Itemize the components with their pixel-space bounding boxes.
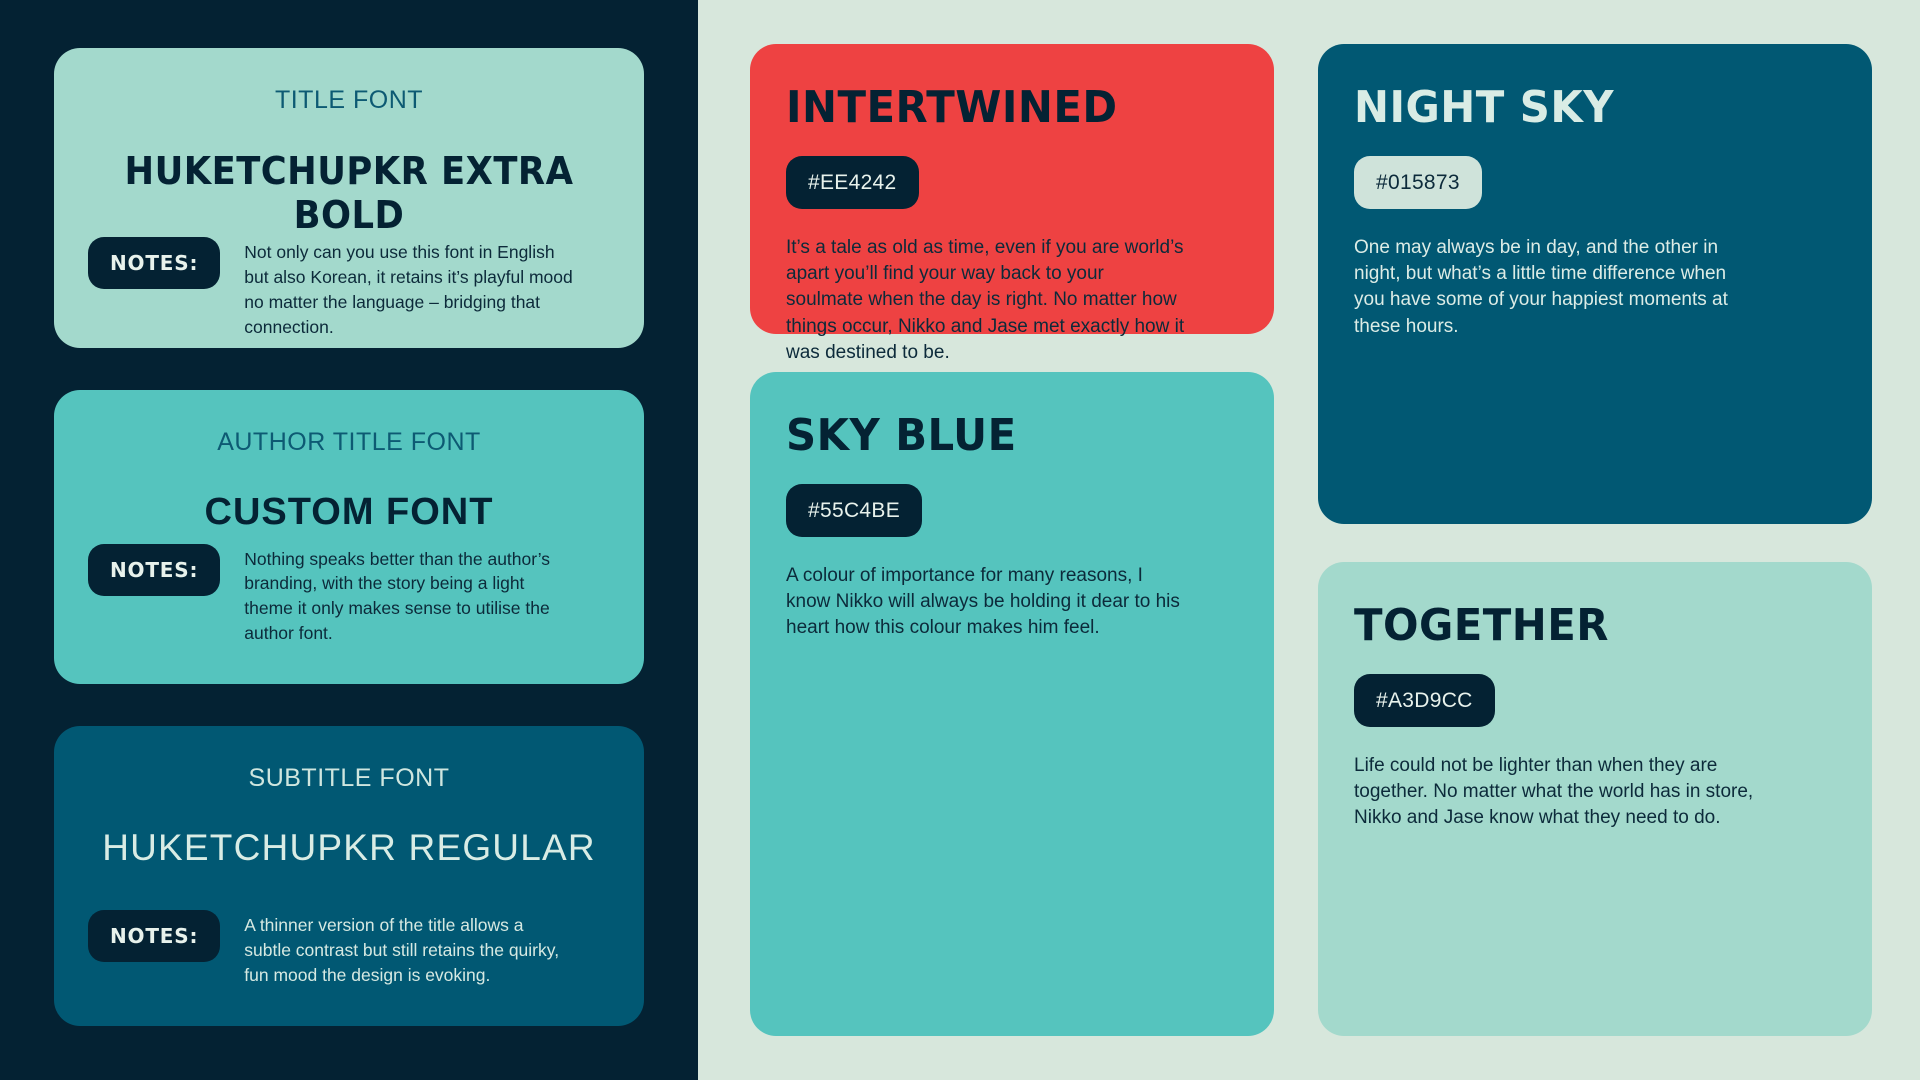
notes-text: Not only can you use this font in Englis… bbox=[244, 237, 574, 339]
colour-description: One may always be in day, and the other … bbox=[1354, 235, 1744, 340]
font-sample-text: HUKETCHUPKR EXTRA BOLD bbox=[106, 149, 591, 237]
font-card-label: AUTHOR TITLE FONT bbox=[88, 428, 610, 457]
font-card-label: TITLE FONT bbox=[88, 86, 610, 115]
hex-code-chip: #015873 bbox=[1354, 156, 1482, 209]
colour-name: SKY BLUE bbox=[786, 414, 1215, 458]
font-sample-text: HUKETCHUPKR REGULAR bbox=[88, 827, 610, 869]
font-card-label: SUBTITLE FONT bbox=[88, 764, 610, 793]
font-card-subtitle-font: SUBTITLE FONT HUKETCHUPKR REGULAR NOTES:… bbox=[54, 726, 644, 1026]
colour-description: Life could not be lighter than when they… bbox=[1354, 753, 1754, 832]
colour-column-middle: INTERTWINED #EE4242 It’s a tale as old a… bbox=[750, 44, 1274, 1036]
colour-card-together: TOGETHER #A3D9CC Life could not be light… bbox=[1318, 562, 1872, 1036]
notes-badge: NOTES: bbox=[88, 544, 220, 596]
colour-description: A colour of importance for many reasons,… bbox=[786, 563, 1186, 642]
colour-card-intertwined: INTERTWINED #EE4242 It’s a tale as old a… bbox=[750, 44, 1274, 334]
notes-row: NOTES: A thinner version of the title al… bbox=[88, 910, 610, 988]
font-card-title-font: TITLE FONT HUKETCHUPKR EXTRA BOLD NOTES:… bbox=[54, 48, 644, 348]
hex-code-chip: #EE4242 bbox=[786, 156, 919, 209]
colour-name: INTERTWINED bbox=[786, 86, 1215, 130]
font-sample-text: CUSTOM FONT bbox=[88, 491, 610, 534]
notes-text: A thinner version of the title allows a … bbox=[244, 910, 574, 988]
notes-row: NOTES: Nothing speaks better than the au… bbox=[88, 544, 610, 646]
hex-code-chip: #55C4BE bbox=[786, 484, 922, 537]
colour-card-night-sky: NIGHT SKY #015873 One may always be in d… bbox=[1318, 44, 1872, 524]
colour-name: NIGHT SKY bbox=[1354, 86, 1812, 130]
colour-palette-panel: INTERTWINED #EE4242 It’s a tale as old a… bbox=[698, 0, 1920, 1080]
notes-badge: NOTES: bbox=[88, 237, 220, 289]
colour-column-right: NIGHT SKY #015873 One may always be in d… bbox=[1318, 44, 1872, 1036]
notes-text: Nothing speaks better than the author’s … bbox=[244, 544, 574, 646]
colour-name: TOGETHER bbox=[1354, 604, 1812, 648]
notes-badge: NOTES: bbox=[88, 910, 220, 962]
brand-style-board: TITLE FONT HUKETCHUPKR EXTRA BOLD NOTES:… bbox=[0, 0, 1920, 1080]
colour-card-sky-blue: SKY BLUE #55C4BE A colour of importance … bbox=[750, 372, 1274, 1036]
hex-code-chip: #A3D9CC bbox=[1354, 674, 1495, 727]
colour-description: It’s a tale as old as time, even if you … bbox=[786, 235, 1186, 366]
typography-panel: TITLE FONT HUKETCHUPKR EXTRA BOLD NOTES:… bbox=[0, 0, 698, 1080]
notes-row: NOTES: Not only can you use this font in… bbox=[88, 237, 610, 339]
font-card-author-title-font: AUTHOR TITLE FONT CUSTOM FONT NOTES: Not… bbox=[54, 390, 644, 684]
